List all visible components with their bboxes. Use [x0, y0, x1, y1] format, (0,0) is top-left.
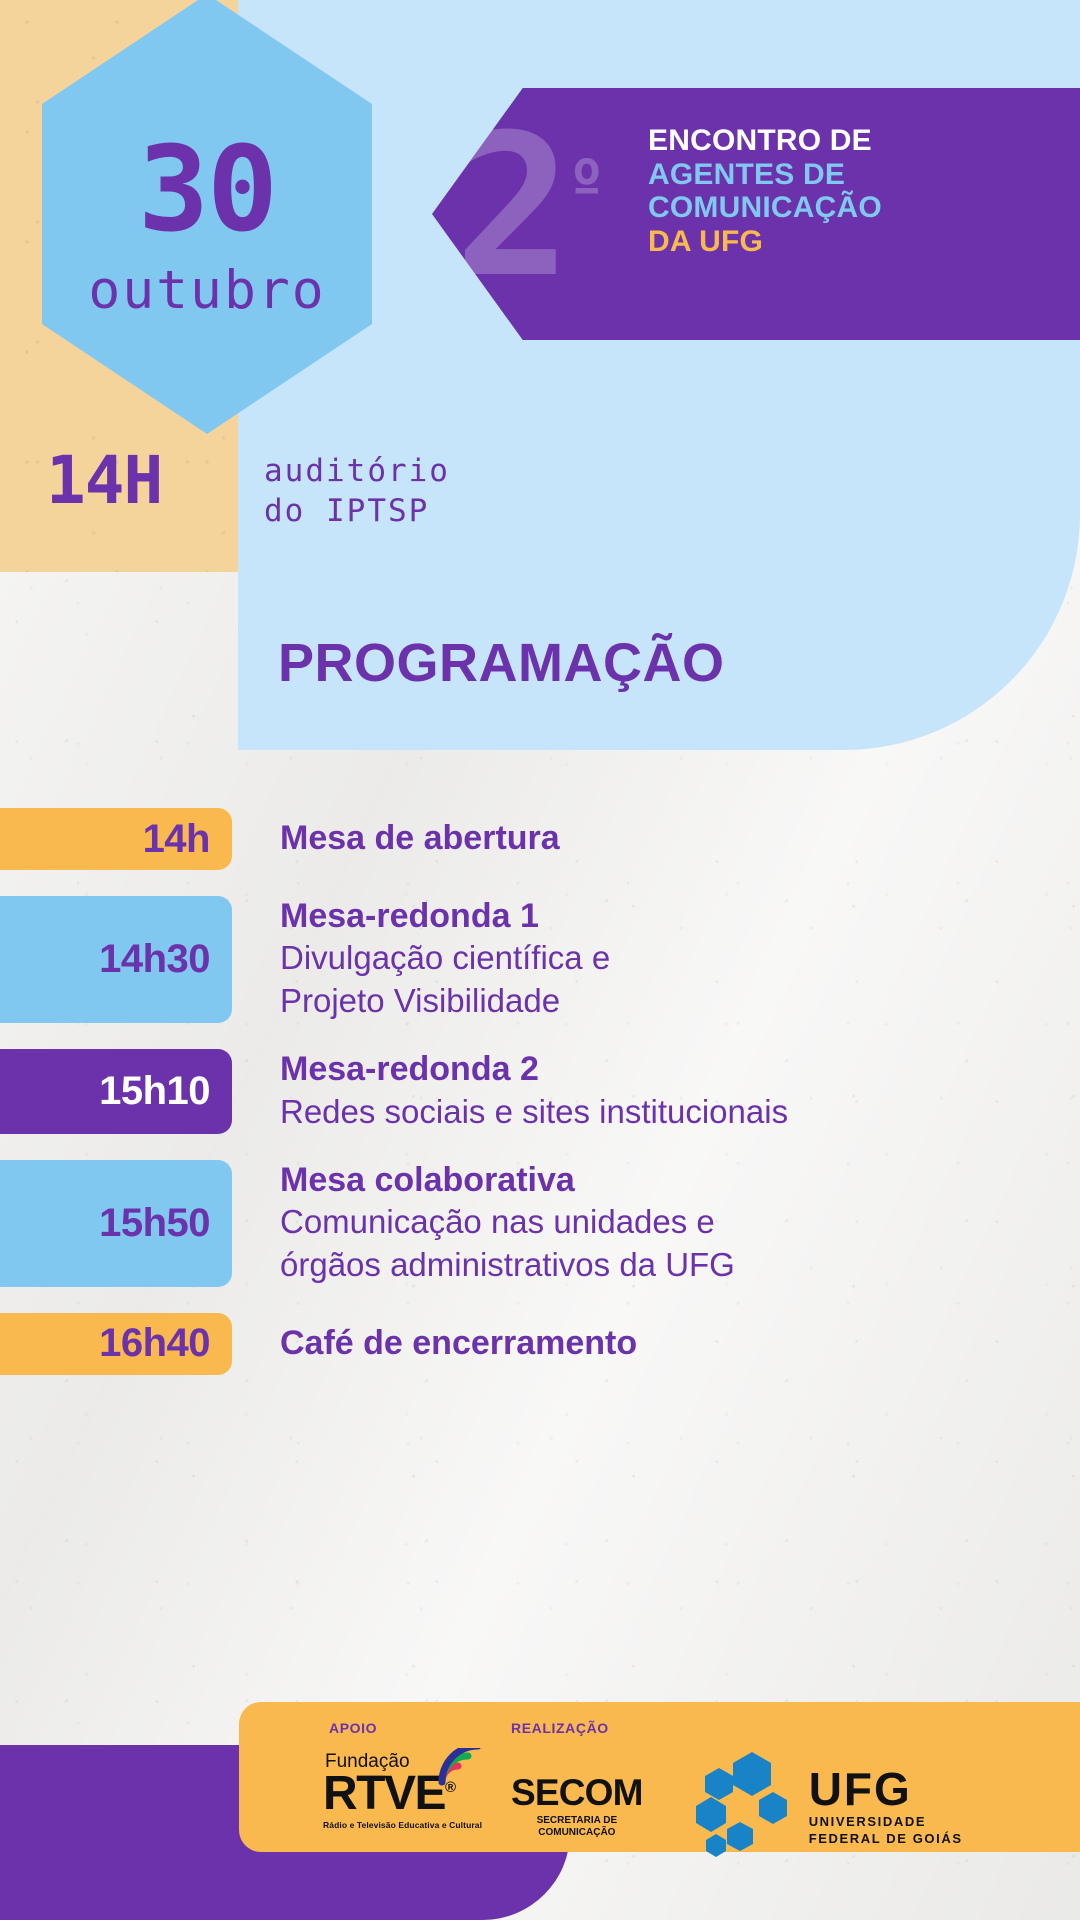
ufg-wordmark: UFG [809, 1766, 963, 1812]
support-block: APOIO Fundação RTVE® Rádio e Televisão E… [329, 1720, 482, 1830]
sponsors-card: APOIO Fundação RTVE® Rádio e Televisão E… [239, 1702, 1080, 1852]
programme-heading: PROGRAMAÇÃO [278, 632, 725, 694]
schedule-row: 16h40Café de encerramento [0, 1313, 1080, 1375]
schedule-item-description-line: órgãos administrativos da UFG [280, 1244, 735, 1287]
schedule-time: 14h [143, 817, 210, 862]
secom-wordmark: SECOM [511, 1774, 643, 1811]
schedule-item-title: Mesa colaborativa [280, 1160, 735, 1201]
rtve-letters: RTVE [323, 1767, 445, 1820]
realization-label: REALIZAÇÃO [511, 1720, 963, 1736]
schedule-row-text: Mesa-redonda 2Redes sociais e sites inst… [232, 1049, 788, 1133]
venue-line-1: auditório [264, 452, 450, 492]
realization-logos: SECOM SECRETARIA DE COMUNICAÇÃO [511, 1750, 963, 1863]
schedule-item-title: Mesa-redonda 1 [280, 896, 610, 937]
schedule-time-pill: 14h30 [0, 896, 232, 1023]
schedule-time: 14h30 [99, 937, 210, 982]
schedule-row-text: Café de encerramento [232, 1313, 637, 1375]
rtve-tagline: Rádio e Televisão Educativa e Cultural [323, 1820, 482, 1830]
title-line-1: ENCONTRO DE [648, 124, 882, 158]
ufg-hexagons-icon [695, 1750, 799, 1863]
schedule-item-description-line: Projeto Visibilidade [280, 980, 610, 1023]
schedule-item-title: Café de encerramento [280, 1323, 637, 1364]
secom-logo: SECOM SECRETARIA DE COMUNICAÇÃO [511, 1774, 643, 1840]
schedule-item-description-line: Comunicação nas unidades e [280, 1201, 735, 1244]
event-title-text: ENCONTRO DE AGENTES DE COMUNICAÇÃO DA UF… [648, 124, 882, 258]
title-line-3: COMUNICAÇÃO [648, 191, 882, 225]
ufg-text-block: UFG UNIVERSIDADE FEDERAL DE GOIÁS [809, 1766, 963, 1847]
title-line-2: AGENTES DE [648, 158, 882, 192]
schedule-item-description-line: Divulgação científica e [280, 937, 610, 980]
secom-subtitle-line-1: SECRETARIA DE [537, 1815, 618, 1828]
poster-root: 30 outubro 2º ENCONTRO DE AGENTES DE COM… [0, 0, 1080, 1920]
event-venue: auditório do IPTSP [264, 452, 450, 531]
ufg-subtitle-line-1: UNIVERSIDADE [809, 1814, 963, 1830]
schedule-row-text: Mesa de abertura [232, 808, 560, 870]
event-month: outubro [88, 264, 325, 317]
programme-schedule: 14hMesa de abertura14h30Mesa-redonda 1Di… [0, 808, 1080, 1401]
schedule-row: 14hMesa de abertura [0, 808, 1080, 870]
venue-line-2: do IPTSP [264, 492, 450, 532]
schedule-time: 15h10 [99, 1069, 210, 1114]
schedule-row: 15h50Mesa colaborativaComunicação nas un… [0, 1160, 1080, 1287]
event-title-banner: 2º ENCONTRO DE AGENTES DE COMUNICAÇÃO DA… [432, 88, 1080, 340]
support-logos: Fundação RTVE® Rádio e Televisão Educati… [323, 1752, 482, 1830]
schedule-row: 14h30Mesa-redonda 1Divulgação científica… [0, 896, 1080, 1023]
schedule-time: 15h50 [99, 1201, 210, 1246]
support-label: APOIO [329, 1720, 482, 1736]
event-start-hour: 14H [46, 448, 162, 514]
schedule-time-pill: 15h10 [0, 1049, 232, 1133]
ufg-subtitle-line-2: FEDERAL DE GOIÁS [809, 1831, 963, 1847]
rtve-signal-icon [432, 1748, 488, 1797]
title-line-4: DA UFG [648, 225, 882, 259]
schedule-time: 16h40 [99, 1321, 210, 1366]
realization-block: REALIZAÇÃO SECOM SECRETARIA DE COMUNICAÇ… [511, 1720, 963, 1863]
schedule-time-pill: 16h40 [0, 1313, 232, 1375]
secom-subtitle: SECRETARIA DE COMUNICAÇÃO [537, 1815, 618, 1840]
schedule-time-pill: 15h50 [0, 1160, 232, 1287]
schedule-row-text: Mesa-redonda 1Divulgação científica ePro… [232, 896, 610, 1023]
secom-subtitle-line-2: COMUNICAÇÃO [537, 1827, 618, 1840]
edition-ordinal: º [566, 146, 600, 224]
rtve-logo: Fundação RTVE® Rádio e Televisão Educati… [323, 1752, 482, 1830]
event-day: 30 [138, 130, 276, 248]
schedule-item-description-line: Redes sociais e sites institucionais [280, 1091, 788, 1134]
schedule-row: 15h10Mesa-redonda 2Redes sociais e sites… [0, 1049, 1080, 1133]
schedule-row-text: Mesa colaborativaComunicação nas unidade… [232, 1160, 735, 1287]
schedule-item-title: Mesa-redonda 2 [280, 1049, 788, 1090]
schedule-time-pill: 14h [0, 808, 232, 870]
ufg-logo: UFG UNIVERSIDADE FEDERAL DE GOIÁS [695, 1750, 963, 1863]
schedule-item-title: Mesa de abertura [280, 818, 560, 859]
